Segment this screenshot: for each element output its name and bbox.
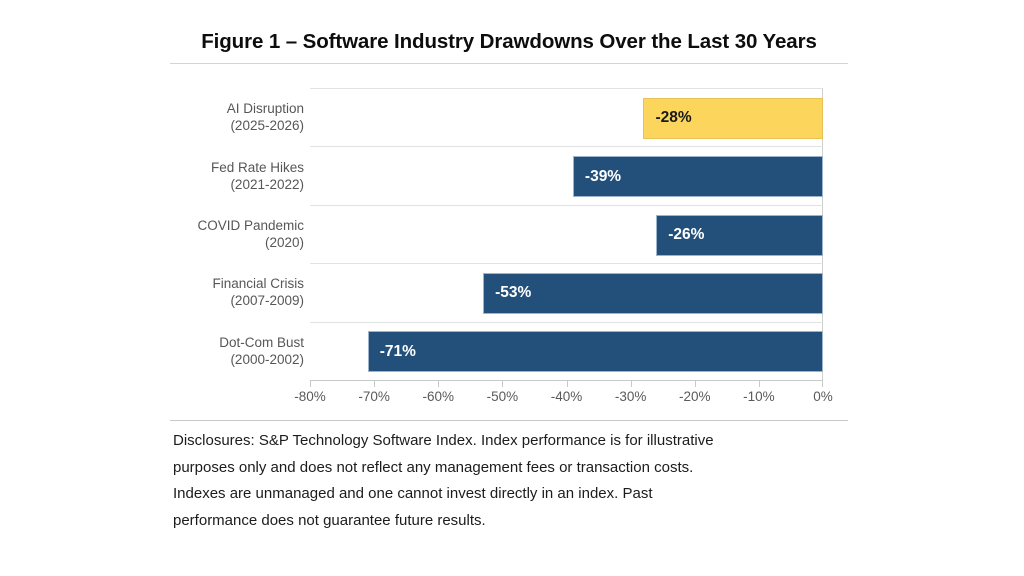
category-label-covid-pandemic: COVID Pandemic(2020) [170, 217, 304, 251]
bar-fed-rate-hikes: -39% [573, 156, 823, 197]
category-name: Fed Rate Hikes [170, 159, 304, 176]
category-years: (2025-2026) [170, 117, 304, 134]
x-tick-mark [822, 381, 823, 387]
disclosure-line: performance does not guarantee future re… [173, 508, 833, 535]
disclosure-line: Disclosures: S&P Technology Software Ind… [173, 428, 833, 455]
category-name: Dot-Com Bust [170, 334, 304, 351]
title-divider [170, 63, 848, 64]
bar-dot-com-bust: -71% [368, 331, 823, 372]
category-axis-labels: AI Disruption(2025-2026)Fed Rate Hikes(2… [170, 88, 310, 380]
bar-covid-pandemic: -26% [656, 215, 823, 256]
category-years: (2021-2022) [170, 176, 304, 193]
x-tick-mark [695, 381, 696, 387]
category-years: (2007-2009) [170, 292, 304, 309]
category-label-dot-com-bust: Dot-Com Bust(2000-2002) [170, 334, 304, 368]
bar-value-label: -53% [484, 284, 531, 302]
x-tick-label: -60% [408, 389, 468, 404]
category-years: (2020) [170, 234, 304, 251]
chart: AI Disruption(2025-2026)Fed Rate Hikes(2… [170, 88, 848, 410]
x-tick-mark [567, 381, 568, 387]
figure-container: Figure 1 – Software Industry Drawdowns O… [0, 0, 1024, 576]
page-title: Figure 1 – Software Industry Drawdowns O… [170, 30, 848, 54]
x-tick-mark [759, 381, 760, 387]
disclosures-text: Disclosures: S&P Technology Software Ind… [173, 428, 833, 534]
x-tick-mark [502, 381, 503, 387]
bar-ai-disruption: -28% [643, 98, 823, 139]
x-tick-mark [374, 381, 375, 387]
disclosure-divider [170, 420, 848, 421]
bar-value-label: -39% [574, 168, 621, 186]
bar-value-label: -71% [369, 343, 416, 361]
x-tick-label: -50% [472, 389, 532, 404]
category-name: Financial Crisis [170, 275, 304, 292]
x-tick-mark [438, 381, 439, 387]
category-name: COVID Pandemic [170, 217, 304, 234]
x-tick-label: -20% [665, 389, 725, 404]
category-label-financial-crisis: Financial Crisis(2007-2009) [170, 275, 304, 309]
x-tick-label: -80% [280, 389, 340, 404]
title-block: Figure 1 – Software Industry Drawdowns O… [170, 30, 848, 64]
category-name: AI Disruption [170, 100, 304, 117]
x-tick-label: 0% [793, 389, 853, 404]
x-axis: -80%-70%-60%-50%-40%-30%-20%-10%0% [310, 380, 823, 410]
plot-area: -28%-39%-26%-53%-71% [310, 88, 823, 380]
bar-value-label: -26% [657, 226, 704, 244]
bar-value-label: -28% [644, 109, 691, 127]
x-tick-mark [310, 381, 311, 387]
category-years: (2000-2002) [170, 351, 304, 368]
disclosure-line: purposes only and does not reflect any m… [173, 455, 833, 482]
x-tick-label: -70% [344, 389, 404, 404]
x-tick-mark [631, 381, 632, 387]
bar-financial-crisis: -53% [483, 273, 823, 314]
x-tick-label: -30% [601, 389, 661, 404]
disclosure-line: Indexes are unmanaged and one cannot inv… [173, 481, 833, 508]
x-tick-label: -10% [729, 389, 789, 404]
category-label-fed-rate-hikes: Fed Rate Hikes(2021-2022) [170, 159, 304, 193]
x-tick-label: -40% [537, 389, 597, 404]
category-label-ai-disruption: AI Disruption(2025-2026) [170, 100, 304, 134]
